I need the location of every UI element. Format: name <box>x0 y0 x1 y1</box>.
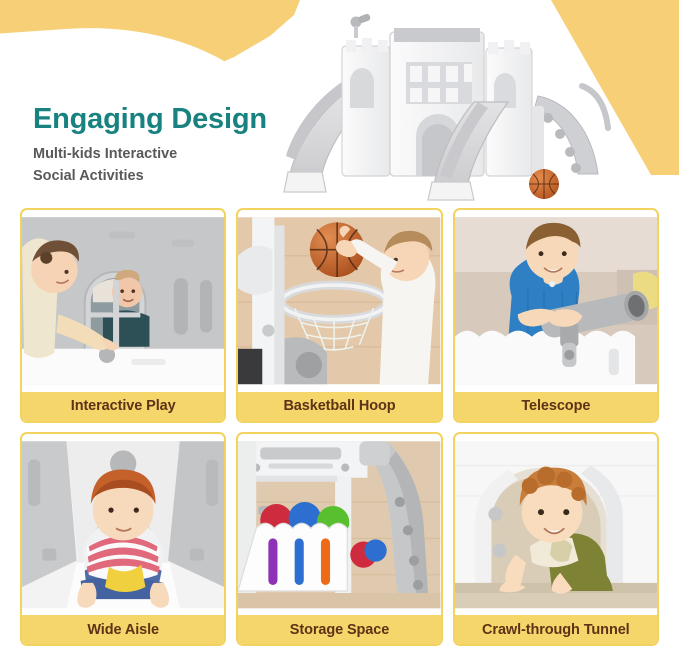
wide-aisle-icon <box>22 434 224 616</box>
feature-tile-storage-space[interactable]: Storage Space <box>236 432 442 647</box>
hero-banner: Engaging Design Multi-kids Interactive S… <box>0 0 679 205</box>
feature-caption-crawl-tunnel: Crawl-through Tunnel <box>455 615 657 644</box>
feature-caption-wide-aisle: Wide Aisle <box>22 615 224 644</box>
page-title: Engaging Design <box>33 104 267 134</box>
feature-tile-interactive-play[interactable]: Interactive Play <box>20 208 226 423</box>
telescope-icon <box>455 210 657 392</box>
feature-caption-storage-space: Storage Space <box>238 615 440 644</box>
hero-subtitle-line-1: Multi-kids Interactive <box>33 143 267 165</box>
feature-caption-basketball-hoop: Basketball Hoop <box>238 392 440 421</box>
feature-tile-grid: Interactive Play <box>20 208 659 646</box>
feature-tile-wide-aisle[interactable]: Wide Aisle <box>20 432 226 647</box>
basketball-hoop-icon <box>238 210 440 392</box>
hero-subtitle: Multi-kids Interactive Social Activities <box>33 143 267 187</box>
interactive-play-icon <box>22 210 224 392</box>
feature-caption-telescope: Telescope <box>455 392 657 421</box>
hero-subtitle-line-2: Social Activities <box>33 165 267 187</box>
crawl-tunnel-icon <box>455 434 657 616</box>
feature-tile-crawl-tunnel[interactable]: Crawl-through Tunnel <box>453 432 659 647</box>
feature-tile-basketball-hoop[interactable]: Basketball Hoop <box>236 208 442 423</box>
feature-caption-interactive-play: Interactive Play <box>22 392 224 421</box>
feature-tile-telescope[interactable]: Telescope <box>453 208 659 423</box>
storage-space-icon <box>238 434 440 616</box>
hero-text-block: Engaging Design Multi-kids Interactive S… <box>33 104 267 188</box>
playset-product-image <box>282 6 672 203</box>
